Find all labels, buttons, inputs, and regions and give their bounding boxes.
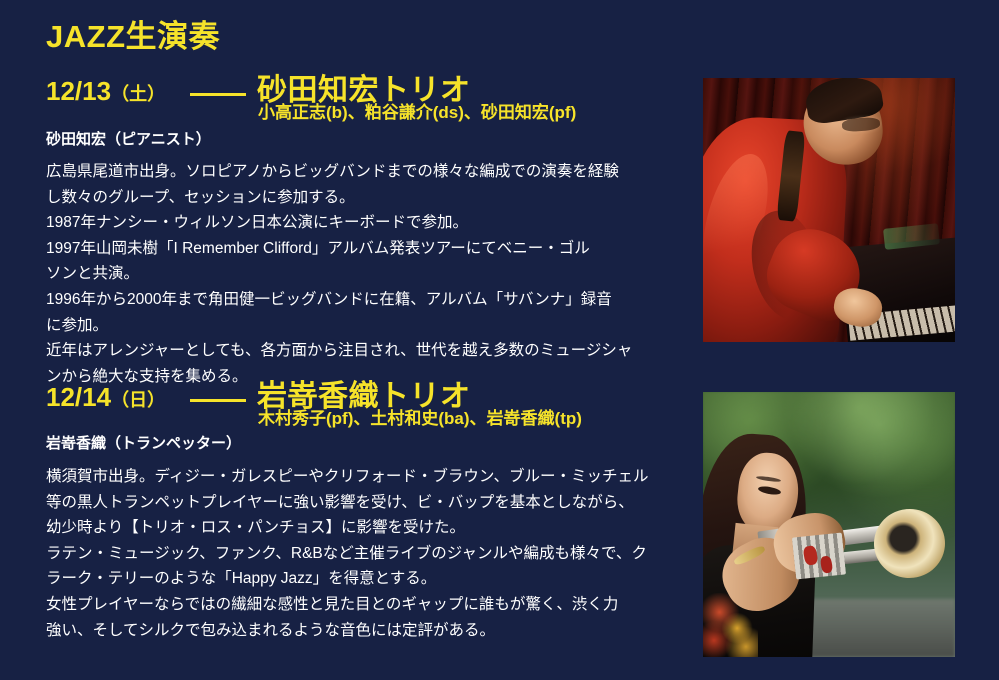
- bio-line: ラテン・ミュージック、ファンク、R&Bなど主催ライブのジャンルや編成も様々で、ク: [46, 541, 686, 567]
- act-person-name: 砂田知宏（ピアニスト）: [46, 128, 211, 149]
- bio-line: 1997年山岡未樹「I Remember Clifford」アルバム発表ツアーに…: [46, 236, 686, 262]
- bio-line: に参加。: [46, 313, 686, 339]
- bio-line: 近年はアレンジャーとしても、各方面から注目され、世代を越え多数のミュージシャ: [46, 338, 686, 364]
- act-date: 12/13（土）: [46, 76, 165, 107]
- bio-line: 幼少時より【トリオ・ロス・パンチョス】に影響を受けた。: [46, 515, 686, 541]
- date-rule-divider: [190, 93, 246, 96]
- act-members: 木村秀子(pf)、土村和史(ba)、岩嵜香織(tp): [258, 404, 582, 429]
- bio-line: 1987年ナンシー・ウィルソン日本公演にキーボードで参加。: [46, 210, 686, 236]
- act-person-name: 岩嵜香織（トランペッター）: [46, 432, 241, 453]
- bio-line: 等の黒人トランペットプレイヤーに強い影響を受け、ビ・バップを基本としながら、: [46, 490, 686, 516]
- act-date: 12/14（日）: [46, 382, 165, 413]
- bio-line: 1996年から2000年まで角田健一ビッグバンドに在籍、アルバム「サバンナ」録音: [46, 287, 686, 313]
- trumpet-valves: [792, 533, 847, 580]
- act-date-value: 12/14: [46, 382, 111, 412]
- bio-line: 女性プレイヤーならではの繊細な感性と見た目とのギャップに誰もが驚く、渋く力: [46, 592, 686, 618]
- jazz-live-flyer: JAZZ生演奏 12/13（土） 砂田知宏トリオ 小高正志(b)、粕谷謙介(ds…: [0, 0, 999, 680]
- bio-line: 横須賀市出身。ディジー・ガレスピーやクリフォード・ブラウン、ブルー・ミッチェル: [46, 464, 686, 490]
- bio-line: し数々のグループ、セッションに参加する。: [46, 185, 686, 211]
- bio-line: ラーク・テリーのような「Happy Jazz」を得意とする。: [46, 566, 686, 592]
- bio-line: 広島県尾道市出身。ソロピアノからビッグバンドまでの様々な編成での演奏を経験: [46, 159, 686, 185]
- act-weekday: （土）: [111, 84, 165, 104]
- act-date-value: 12/13: [46, 76, 111, 106]
- date-rule-divider: [190, 399, 246, 402]
- act-members: 小高正志(b)、粕谷謙介(ds)、砂田知宏(pf): [258, 98, 576, 123]
- act-bio: 広島県尾道市出身。ソロピアノからビッグバンドまでの様々な編成での演奏を経験 し数…: [46, 159, 686, 389]
- trumpeter-photo-art: [703, 392, 955, 657]
- bio-line: 強い、そしてシルクで包み込まれるような音色には定評がある。: [46, 618, 686, 644]
- act-bio: 横須賀市出身。ディジー・ガレスピーやクリフォード・ブラウン、ブルー・ミッチェル …: [46, 464, 686, 643]
- bio-line: ソンと共演。: [46, 261, 686, 287]
- artist-photo-pianist: [703, 78, 955, 342]
- page-title: JAZZ生演奏: [46, 11, 220, 56]
- act-weekday: （日）: [111, 390, 165, 410]
- pianist-photo-art: [703, 78, 955, 342]
- artist-photo-trumpeter: [703, 392, 955, 657]
